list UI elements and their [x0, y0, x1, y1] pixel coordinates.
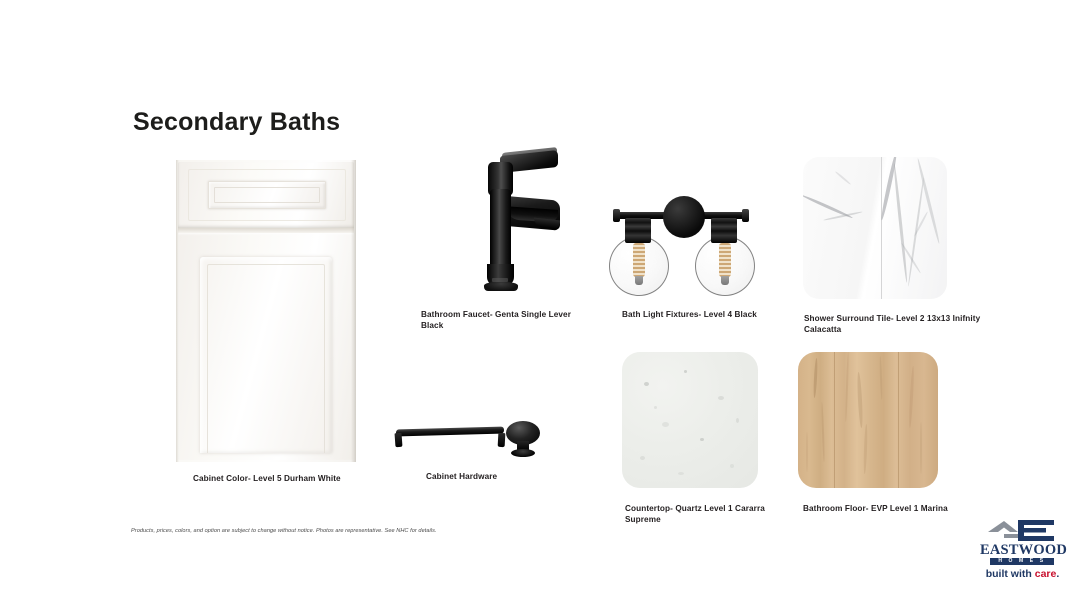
bathroom-floor-swatch	[798, 352, 938, 488]
quartz-fleck	[700, 438, 704, 441]
logo-tagline-suffix: .	[1056, 568, 1059, 580]
floor-plank-seam	[898, 352, 899, 488]
cabinet-door-image	[176, 160, 356, 462]
tile-vein	[893, 163, 909, 283]
cabinet-door-front	[178, 233, 354, 460]
cabinet-pull-post-left	[395, 433, 403, 447]
wood-grain	[806, 432, 808, 472]
quartz-fleck	[662, 422, 669, 427]
floor-plank-seam	[834, 352, 835, 488]
light-globe-left	[609, 236, 669, 296]
caption-countertop: Countertop- Quartz Level 1 Cararra Supre…	[625, 503, 785, 525]
wood-grain	[879, 356, 883, 400]
countertop-quartz-swatch	[622, 352, 758, 488]
logo-tagline: built with care.	[980, 568, 1065, 580]
caption-cabinet-color: Cabinet Color- Level 5 Durham White	[193, 473, 433, 484]
quartz-fleck	[678, 472, 684, 475]
page-title: Secondary Baths	[133, 108, 340, 137]
light-globe-right	[695, 236, 755, 296]
quartz-fleck	[644, 382, 649, 386]
shower-surround-tile-swatch	[803, 157, 947, 299]
bathroom-faucet-image	[462, 146, 562, 291]
quartz-fleck	[654, 406, 657, 409]
wood-grain	[821, 402, 825, 462]
logo-wordmark: EASTWOOD	[980, 542, 1065, 559]
faucet-base-plate	[484, 282, 518, 291]
wood-grain	[845, 352, 849, 422]
caption-bath-light-fixtures: Bath Light Fixtures- Level 4 Black	[622, 309, 782, 320]
cabinet-right-shadow	[351, 160, 356, 462]
light-crossbar-cap-left	[613, 209, 620, 222]
tile-vein	[835, 171, 852, 185]
disclaimer-text: Products, prices, colors, and option are…	[131, 528, 437, 534]
cabinet-knob-base	[511, 449, 535, 457]
logo-tagline-accent: care	[1035, 568, 1057, 580]
caption-bathroom-floor: Bathroom Floor- EVP Level 1 Marina	[803, 503, 1003, 514]
quartz-fleck	[718, 396, 724, 400]
cabinet-drawer-inset-panel	[208, 181, 326, 209]
light-bulb-filament-left	[633, 243, 645, 277]
eastwood-homes-logo: EASTWOOD H O M E S built with care.	[980, 520, 1065, 584]
bath-light-fixture-image	[601, 186, 761, 292]
design-selection-board: Secondary Baths Cabinet Color- Level 5 D…	[0, 0, 1069, 600]
quartz-fleck	[730, 464, 734, 468]
light-backplate	[663, 196, 705, 238]
cabinet-pull-post-right	[498, 433, 506, 447]
light-socket-right	[711, 218, 737, 243]
wood-grain	[920, 422, 922, 474]
light-bulb-filament-right	[719, 243, 731, 277]
wood-grain	[857, 372, 864, 428]
caption-shower-surround-tile: Shower Surround Tile- Level 2 13x13 Inif…	[804, 313, 1014, 335]
quartz-fleck	[640, 456, 645, 460]
cabinet-hardware-image	[388, 408, 548, 470]
cabinet-drawer-front	[178, 162, 354, 228]
quartz-fleck	[736, 418, 739, 423]
logo-tagline-prefix: built with	[986, 568, 1035, 580]
wood-grain	[908, 366, 914, 428]
eastwood-e-mark-icon	[988, 520, 1054, 542]
wood-grain	[863, 424, 868, 474]
wood-grain	[813, 358, 818, 398]
logo-subtext: H O M E S	[990, 558, 1054, 565]
cabinet-left-shadow	[176, 160, 179, 462]
cabinet-raised-panel	[200, 257, 332, 453]
caption-bathroom-faucet: Bathroom Faucet- Genta Single Lever Blac…	[421, 309, 571, 331]
cabinet-bar-pull	[396, 426, 504, 436]
light-socket-left	[625, 218, 651, 243]
tile-seam	[881, 157, 882, 299]
faucet-brand-mark	[492, 278, 508, 282]
light-crossbar-cap-right	[742, 209, 749, 222]
quartz-fleck	[684, 370, 687, 373]
caption-cabinet-hardware: Cabinet Hardware	[426, 471, 576, 482]
